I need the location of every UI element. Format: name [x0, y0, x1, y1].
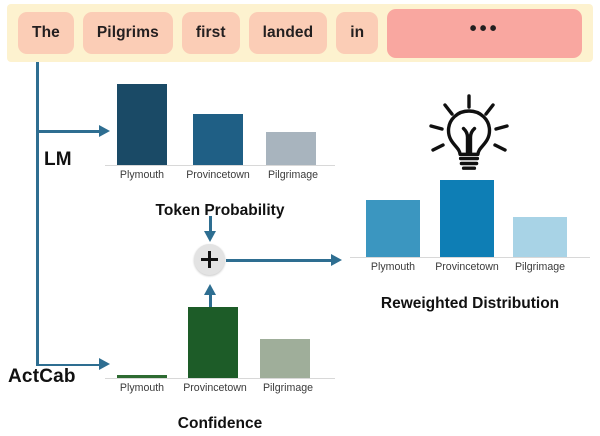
- chart-confidence: Plymouth Provincetown Pilgrimage Confide…: [105, 307, 335, 398]
- junction-to-output-line: [226, 259, 334, 262]
- chart-title: Token Probability: [105, 202, 335, 220]
- tick-label: Pilgrimage: [263, 382, 313, 394]
- x-axis: [105, 165, 335, 166]
- actcab-label: ActCab: [8, 366, 76, 388]
- bar-pilgrimage: [266, 132, 316, 166]
- chart-token-probability: Plymouth Provincetown Pilgrimage Token P…: [105, 84, 335, 185]
- lm-branch-line: [36, 130, 102, 133]
- bar-plymouth: [366, 200, 420, 259]
- confidence-to-junction-arrow-icon: [204, 284, 216, 295]
- tick-label: Provincetown: [435, 261, 499, 273]
- chart-title: Confidence: [105, 415, 335, 433]
- token-chip[interactable]: The: [18, 12, 74, 54]
- bar-pilgrimage: [513, 217, 567, 258]
- tick-label: Plymouth: [120, 169, 164, 181]
- token-chip[interactable]: in: [336, 12, 378, 54]
- bar-provincetown: [440, 180, 494, 258]
- bar-pilgrimage: [260, 339, 310, 379]
- plot-area: [350, 180, 590, 258]
- x-axis: [350, 257, 590, 258]
- bar-provincetown: [188, 307, 238, 379]
- lm-to-junction-arrow-icon: [204, 231, 216, 242]
- lm-label: LM: [44, 149, 72, 171]
- token-chip-ellipsis[interactable]: •••: [387, 9, 582, 58]
- tick-label: Pilgrimage: [268, 169, 318, 181]
- plus-icon-stem: [208, 251, 211, 268]
- junction-to-output-arrow-icon: [331, 254, 342, 266]
- tick-label: Pilgrimage: [515, 261, 565, 273]
- x-axis: [105, 378, 335, 379]
- x-tick-labels: Plymouth Provincetown Pilgrimage: [350, 261, 590, 277]
- tick-label: Provincetown: [183, 382, 247, 394]
- tick-label: Provincetown: [186, 169, 250, 181]
- plot-area: [105, 307, 335, 379]
- trunk-line: [36, 62, 39, 366]
- x-tick-labels: Plymouth Provincetown Pilgrimage: [105, 169, 335, 185]
- bar-provincetown: [193, 114, 243, 166]
- x-tick-labels: Plymouth Provincetown Pilgrimage: [105, 382, 335, 398]
- bar-plymouth: [117, 84, 167, 166]
- tick-label: Plymouth: [120, 382, 164, 394]
- lightbulb-icon: [424, 92, 514, 179]
- sum-junction-node[interactable]: [194, 244, 225, 275]
- token-chip[interactable]: Pilgrims: [83, 12, 173, 54]
- plot-area: [105, 84, 335, 166]
- token-chip[interactable]: first: [182, 12, 240, 54]
- figure-canvas: The Pilgrims first landed in ••• LM ActC…: [0, 0, 600, 436]
- tick-label: Plymouth: [371, 261, 415, 273]
- chart-title: Reweighted Distribution: [350, 295, 590, 313]
- prompt-token-strip: The Pilgrims first landed in •••: [7, 4, 593, 62]
- token-chip[interactable]: landed: [249, 12, 328, 54]
- chart-reweighted-distribution: Plymouth Provincetown Pilgrimage Reweigh…: [350, 180, 590, 277]
